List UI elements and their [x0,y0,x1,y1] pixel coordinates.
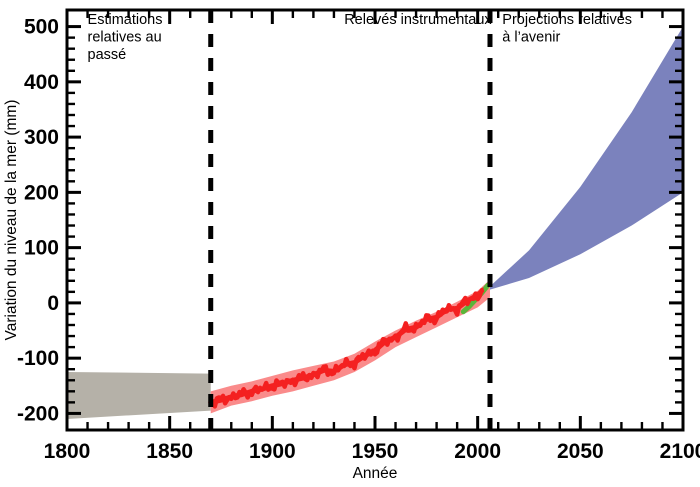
past-estimates-label: Estimationsrelatives aupassé [88,12,163,63]
x-axis-title: Année [353,465,398,482]
x-tick-label: 1950 [352,440,399,463]
instrumental-records-label: Relevés instrumentaux [344,12,492,28]
sea-level-chart: -200-10001002003004005001800185019001950… [0,0,700,487]
x-tick-label: 2000 [454,440,501,463]
y-tick-label: -200 [17,402,59,425]
y-axis-title: Variation du niveau de la mer (mm) [3,100,20,341]
chart-series-bands [67,27,683,419]
x-tick-label: 2100 [660,440,700,463]
y-tick-label: -100 [17,347,59,370]
chart-canvas: -200-10001002003004005001800185019001950… [0,0,700,487]
y-tick-label: 300 [24,126,59,149]
future-projections-label: Projections relativesà l’avenir [502,12,632,46]
series-band [490,27,683,290]
y-tick-label: 0 [47,292,59,315]
x-tick-label: 1900 [249,440,296,463]
x-tick-label: 1850 [146,440,193,463]
y-tick-label: 400 [24,71,59,94]
series-band [67,372,211,419]
x-tick-label: 2050 [557,440,604,463]
y-tick-label: 100 [24,237,59,260]
y-tick-label: 200 [24,181,59,204]
chart-series-lines [211,285,488,406]
x-tick-label: 1800 [44,440,91,463]
y-tick-label: 500 [24,16,59,39]
